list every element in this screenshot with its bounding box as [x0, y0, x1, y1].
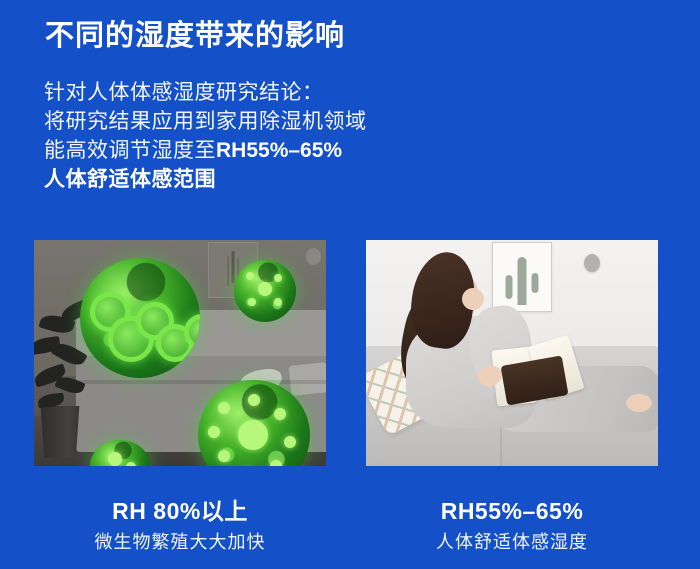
microbe-bubble-large	[80, 258, 200, 378]
virus-spike	[274, 274, 282, 282]
virus-spike	[126, 462, 136, 466]
body-line-1: 针对人体体感湿度研究结论：	[44, 78, 367, 107]
virus-spike	[218, 402, 230, 414]
caption-right-sub: 人体舒适体感湿度	[366, 529, 658, 555]
microbe-bubble-virus	[198, 380, 310, 466]
scene-microbes	[34, 240, 326, 466]
virus-spike	[258, 282, 272, 296]
page-title: 不同的湿度带来的影响	[45, 17, 345, 56]
panel-image-left	[34, 240, 326, 466]
caption-left: RH 80%以上 微生物繁殖大大加快	[34, 496, 326, 555]
plant-pot	[38, 406, 82, 458]
virus-spike	[270, 460, 282, 466]
body-copy: 针对人体体感湿度研究结论： 将研究结果应用到家用除湿机领域 能高效调节湿度至RH…	[44, 78, 367, 194]
virus-spike	[274, 408, 286, 420]
virus-spike	[108, 452, 122, 466]
woman-foot	[626, 394, 652, 412]
scene-comfort	[366, 240, 658, 466]
woman-reading	[366, 240, 658, 466]
humidity-impact-poster: 不同的湿度带来的影响 针对人体体感湿度研究结论： 将研究结果应用到家用除湿机领域…	[0, 0, 700, 569]
body-line-3-prefix: 能高效调节湿度至	[44, 139, 216, 162]
virus-core	[238, 420, 268, 450]
body-line-2: 将研究结果应用到家用除湿机领域	[44, 107, 367, 136]
microbe-bubble-small	[234, 260, 296, 322]
caption-right-main: RH55%–65%	[366, 496, 658, 526]
virus-spike	[218, 450, 230, 462]
body-line-3: 能高效调节湿度至RH55%–65%	[44, 136, 367, 165]
caption-left-sub: 微生物繁殖大大加快	[34, 529, 326, 555]
body-line-4: 人体舒适体感范围	[44, 165, 367, 194]
virus-spike	[274, 298, 282, 306]
virus-spike	[284, 436, 296, 448]
wall-knob-icon	[306, 248, 321, 265]
virus-spike	[208, 426, 220, 438]
caption-left-main: RH 80%以上	[34, 496, 326, 526]
body-line-3-emphasis: RH55%–65%	[216, 139, 342, 162]
virus-spike	[248, 298, 256, 306]
caption-right: RH55%–65% 人体舒适体感湿度	[366, 496, 658, 555]
virus-spike	[246, 272, 254, 280]
plant-leaf	[37, 393, 64, 409]
virus-spike	[248, 394, 260, 406]
panel-image-right	[366, 240, 658, 466]
microbe-bubble-bottom	[90, 440, 150, 466]
